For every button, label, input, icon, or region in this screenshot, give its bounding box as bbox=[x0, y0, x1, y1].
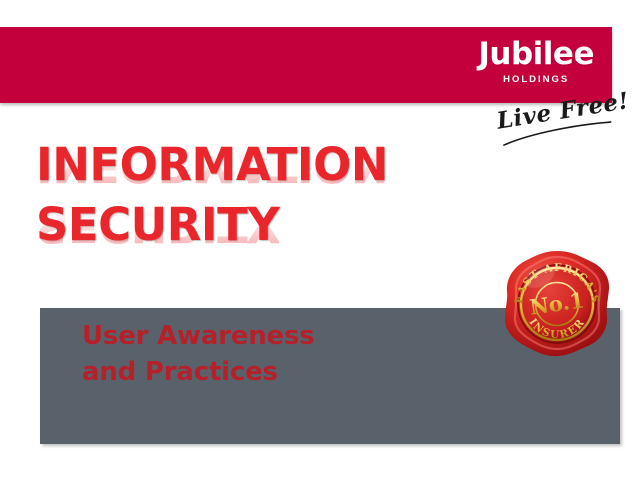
logo-wordmark: Jubilee bbox=[478, 39, 594, 70]
title-reflection-2: SECURITY bbox=[36, 202, 279, 248]
presentation-slide: Jubilee HOLDINGS Live Free! INFORMATION … bbox=[0, 0, 640, 480]
title-reflection-1: INFORMATION bbox=[36, 142, 388, 188]
subtitle-line-2: and Practices bbox=[82, 354, 412, 390]
title-line-2: SECURITY SECURITY bbox=[36, 202, 456, 262]
slide-title: INFORMATION INFORMATION SECURITY SECURIT… bbox=[36, 142, 456, 262]
logo-subtext: HOLDINGS bbox=[478, 74, 594, 85]
wax-seal-badge: EAST AFRICA'S INSURER No.1 bbox=[502, 249, 612, 359]
wax-seal-icon: EAST AFRICA'S INSURER No.1 bbox=[502, 249, 612, 359]
title-line-1: INFORMATION INFORMATION bbox=[36, 142, 456, 202]
header-band: Jubilee HOLDINGS bbox=[0, 27, 612, 103]
slide-subtitle: User Awareness and Practices bbox=[82, 318, 412, 390]
subtitle-line-1: User Awareness bbox=[82, 318, 412, 354]
jubilee-logo: Jubilee HOLDINGS bbox=[478, 39, 594, 85]
